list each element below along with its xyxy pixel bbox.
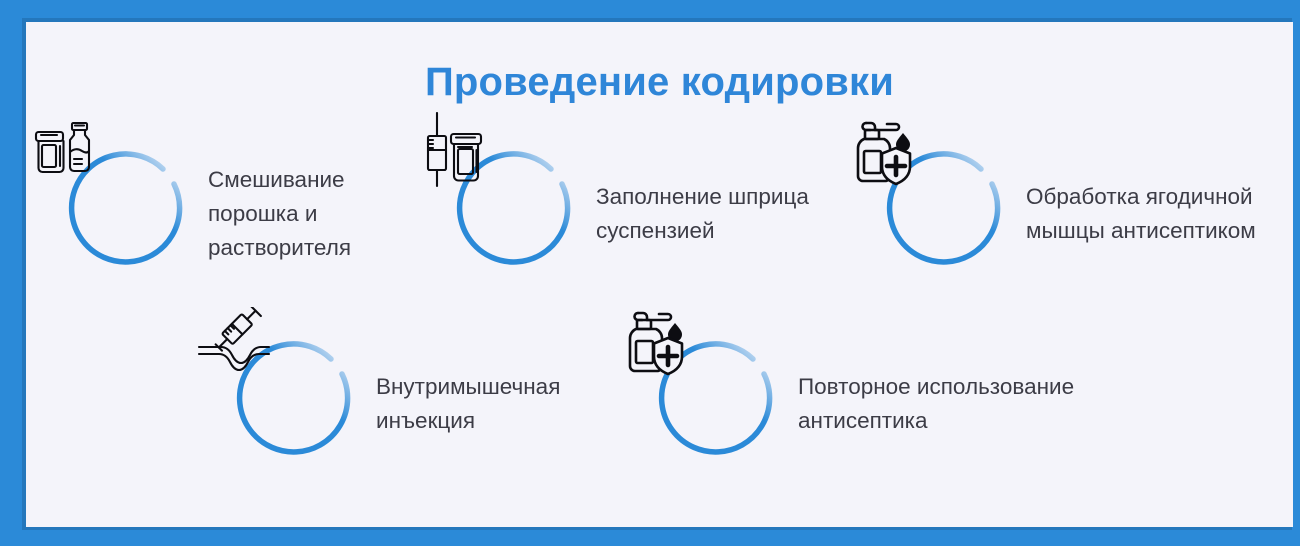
outer-blue-frame: Проведение кодировки [0, 0, 1300, 546]
step-item-5[interactable]: Повторное использование антисептика [656, 340, 1074, 468]
step-badge-2 [454, 150, 582, 278]
intramuscular-injection-icon [195, 307, 273, 373]
step-item-4[interactable]: Внутримышечная инъекция [234, 340, 560, 468]
step-item-2[interactable]: Заполнение шприца суспензией [454, 150, 809, 278]
antiseptic-dispenser-shield-icon [846, 112, 922, 188]
step-item-1[interactable]: Смешивание порошка и растворителя [66, 150, 351, 278]
step-label-5: Повторное использование антисептика [798, 370, 1074, 438]
two-vials-icon [29, 113, 103, 187]
step-label-4: Внутримышечная инъекция [376, 370, 560, 438]
content-panel: Проведение кодировки [26, 22, 1293, 527]
syringe-and-vial-icon [417, 112, 491, 188]
step-label-2: Заполнение шприца суспензией [596, 180, 809, 248]
step-label-1: Смешивание порошка и растворителя [208, 163, 351, 265]
step-badge-5 [656, 340, 784, 468]
page-title: Проведение кодировки [26, 60, 1293, 105]
step-badge-4 [234, 340, 362, 468]
step-badge-3 [884, 150, 1012, 278]
step-badge-1 [66, 150, 194, 278]
step-item-3[interactable]: Обработка ягодичной мышцы антисептиком [884, 150, 1256, 278]
antiseptic-dispenser-shield-icon [618, 302, 694, 378]
step-label-3: Обработка ягодичной мышцы антисептиком [1026, 180, 1256, 248]
